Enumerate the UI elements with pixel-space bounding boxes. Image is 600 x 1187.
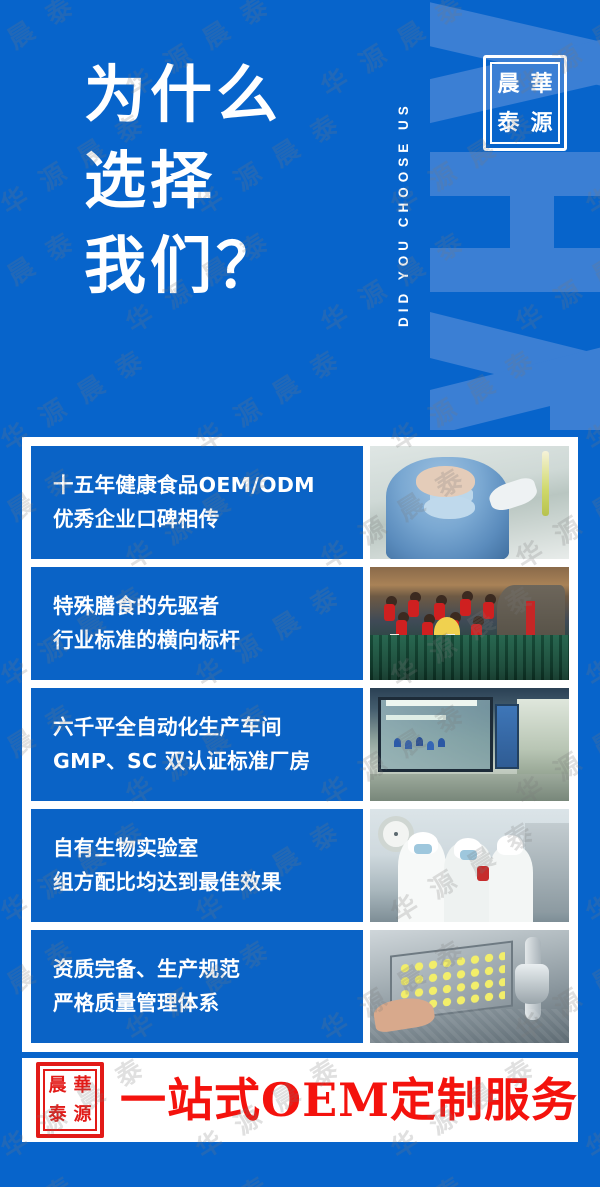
page-title: 为什么 选择 我们？ [84,52,384,309]
workers-production-line-photo [370,809,569,922]
poster-root: DID YOU CHOOSE US 晨 華 泰 源 为什么 选择 我们？ 十五年… [0,0,600,1187]
watermark-text: 华 源 晨 泰 [508,1165,600,1187]
seal-char-3: 泰 [492,103,525,142]
feature-card-1-line-1: 十五年健康食品OEM/ODM [53,469,363,502]
watermark-text: 华 源 晨 泰 [578,1047,600,1166]
banner-slogan: 一站式OEM定制服务 [120,1077,578,1123]
conference-audience-photo [370,567,569,680]
seal-char-4: 源 [525,103,558,142]
feature-card-4-line-1: 自有生物实验室 [53,832,363,865]
feature-card-2[interactable]: 特殊膳食的先驱者 行业标准的横向标杆 [31,567,363,680]
watermark-text: 华 源 晨 泰 [118,1165,279,1187]
brand-seal-stamp-red: 晨 華 泰 源 [36,1062,104,1138]
vertical-english-caption: DID YOU CHOOSE US [396,18,422,410]
feature-row: 特殊膳食的先驱者 行业标准的横向标杆 [31,567,569,680]
clean-room-corridor-photo [370,688,569,801]
seal-char-2: 華 [525,64,558,103]
feature-card-3[interactable]: 六千平全自动化生产车间 GMP、SC 双认证标准厂房 [31,688,363,801]
feature-card-4[interactable]: 自有生物实验室 组方配比均达到最佳效果 [31,809,363,922]
feature-card-2-line-2: 行业标准的横向标杆 [53,624,363,657]
headline-line-1: 为什么 [84,52,384,138]
feature-card-3-line-1: 六千平全自动化生产车间 [53,711,363,744]
watermark-text: 华 源 晨 泰 [0,221,83,340]
seal-char-1: 晨 [492,64,525,103]
watermark-text: 华 源 晨 泰 [0,1165,83,1187]
feature-row: 六千平全自动化生产车间 GMP、SC 双认证标准厂房 [31,688,569,801]
feature-card-2-line-1: 特殊膳食的先驱者 [53,590,363,623]
feature-row: 十五年健康食品OEM/ODM 优秀企业口碑相传 [31,446,569,559]
feature-card-5-line-1: 资质完备、生产规范 [53,953,363,986]
seal-char-3: 泰 [45,1100,70,1129]
seal-char-4: 源 [70,1100,95,1129]
tablet-press-machine-photo [370,930,569,1043]
feature-card-5[interactable]: 资质完备、生产规范 严格质量管理体系 [31,930,363,1043]
feature-card-1[interactable]: 十五年健康食品OEM/ODM 优秀企业口碑相传 [31,446,363,559]
bottom-banner: 晨 華 泰 源 一站式OEM定制服务 [22,1058,578,1142]
watermark-text: 华 源 晨 泰 [578,575,600,694]
feature-card-4-line-2: 组方配比均达到最佳效果 [53,866,363,899]
feature-row: 自有生物实验室 组方配比均达到最佳效果 [31,809,569,922]
feature-list-frame: 十五年健康食品OEM/ODM 优秀企业口碑相传 特殊膳食的先驱者 行业标准的横向… [22,437,578,1052]
feature-row: 资质完备、生产规范 严格质量管理体系 [31,930,569,1043]
brand-seal-stamp-white: 晨 華 泰 源 [483,55,567,151]
feature-card-3-line-2: GMP、SC 双认证标准厂房 [53,745,363,778]
watermark-text: 华 源 晨 泰 [313,1165,474,1187]
headline-line-2: 选择 [84,138,384,224]
watermark-text: 华 源 晨 泰 [578,811,600,930]
feature-card-5-line-2: 严格质量管理体系 [53,987,363,1020]
seal-char-1: 晨 [45,1071,70,1100]
feature-card-1-line-2: 优秀企业口碑相传 [53,503,363,536]
seal-char-2: 華 [70,1071,95,1100]
headline-line-3: 我们？ [84,223,384,309]
watermark-text: 华 源 晨 泰 [0,0,83,104]
lab-technician-photo [370,446,569,559]
